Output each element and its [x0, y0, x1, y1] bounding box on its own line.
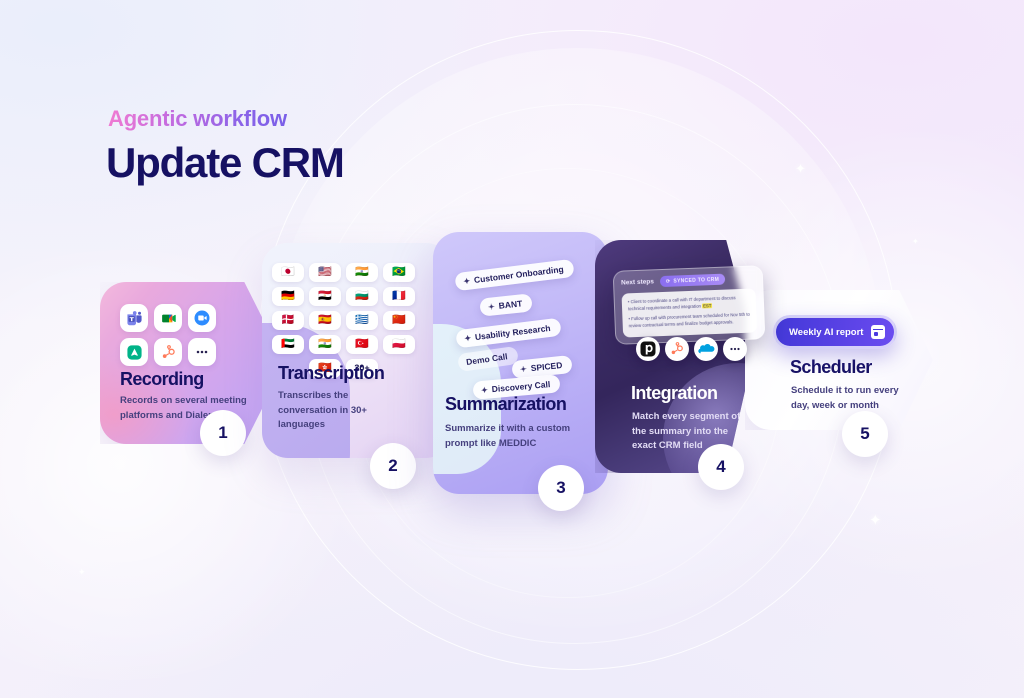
flag-pill: 🇨🇳 [383, 311, 415, 330]
step-number-badge: 4 [698, 444, 744, 490]
card-title-summarization: Summarization [445, 394, 566, 415]
sparkle-icon: ✦ [520, 364, 528, 374]
flag-pill: 🇦🇪 [272, 335, 304, 354]
card-title-recording: Recording [120, 369, 204, 390]
popup-bullet-line: • Client to coordinate a call with IT de… [628, 294, 750, 313]
chip-label: BANT [498, 298, 523, 310]
step-number-badge: 2 [370, 443, 416, 489]
card-title-scheduler: Scheduler [790, 357, 872, 378]
flag-pill: 🇮🇳 [346, 263, 378, 282]
flag-pill: 🇹🇷 [346, 335, 378, 354]
flag-pill: 🇧🇬 [346, 287, 378, 306]
popup-bullet-line: • Follow up call with procurement team s… [628, 311, 750, 330]
recording-app-icons [120, 304, 216, 366]
step-card-scheduler[interactable]: Scheduler Schedule it to run every day, … [745, 290, 933, 430]
popup-title: Next steps [621, 278, 654, 286]
salesforce-icon[interactable] [694, 337, 718, 361]
flag-pill: 🇯🇵 [272, 263, 304, 282]
flag-pill: 🇬🇷 [346, 311, 378, 330]
zoom-icon[interactable] [188, 304, 216, 332]
highlight-token: EST [702, 303, 713, 308]
card-description-transcription: Transcribes the conversation in 30+ lang… [278, 389, 408, 433]
badge-label: SYNCED TO CRM [673, 276, 719, 284]
sparkle-icon: ✦ [488, 302, 496, 312]
step-number-badge: 5 [842, 411, 888, 457]
button-label: Weekly AI report [789, 327, 863, 338]
microsoft-teams-icon[interactable] [120, 304, 148, 332]
popup-header: Next steps ⟳ SYNCED TO CRM [621, 272, 755, 288]
flag-pill: 🇺🇸 [309, 263, 341, 282]
chip-label: Demo Call [466, 351, 509, 367]
step-card-transcription[interactable]: 🇯🇵 🇺🇸 🇮🇳 🇧🇷 🇩🇪 🇪🇬 🇧🇬 🇫🇷 🇩🇰 🇪🇸 🇬🇷 🇨🇳 🇦🇪 🇮… [262, 243, 452, 458]
chip-label: Discovery Call [491, 379, 550, 394]
sparkle-icon: ✦ [463, 276, 471, 286]
flag-pill: 🇵🇱 [383, 335, 415, 354]
calendar-icon [871, 325, 885, 339]
flag-pill: 🇫🇷 [383, 287, 415, 306]
flag-pill: 🇩🇪 [272, 287, 304, 306]
flag-pill: 🇪🇬 [309, 287, 341, 306]
flag-pill: 🇧🇷 [383, 263, 415, 282]
google-meet-icon[interactable] [154, 304, 182, 332]
language-flag-grid: 🇯🇵 🇺🇸 🇮🇳 🇧🇷 🇩🇪 🇪🇬 🇧🇬 🇫🇷 🇩🇰 🇪🇸 🇬🇷 🇨🇳 🇦🇪 🇮… [272, 263, 415, 378]
card-description-summarization: Summarize it with a custom prompt like M… [445, 422, 575, 451]
card-description-scheduler: Schedule it to run every day, week or mo… [791, 384, 909, 413]
more-icon[interactable] [723, 337, 747, 361]
status-badge: ⟳ SYNCED TO CRM [660, 274, 726, 287]
more-icon[interactable] [188, 338, 216, 366]
flag-pill: 🇮🇳 [309, 335, 341, 354]
card-title-transcription: Transcription [278, 363, 384, 384]
flag-pill: 🇩🇰 [272, 311, 304, 330]
popup-body: • Client to coordinate a call with IT de… [622, 288, 758, 337]
pipedrive-icon[interactable] [636, 337, 660, 361]
workflow-infographic: ✦ ✦ ✦ ✦ ✦ ✦ ✦ Agentic workflow Update CR… [0, 0, 1024, 698]
chip-label: SPICED [530, 360, 563, 373]
step-number-badge: 3 [538, 465, 584, 511]
eyebrow-label: Agentic workflow [108, 106, 287, 132]
flag-pill: 🇪🇸 [309, 311, 341, 330]
sparkle-icon: ✦ [464, 333, 472, 343]
card-title-integration: Integration [631, 383, 717, 404]
aircall-icon[interactable] [120, 338, 148, 366]
hubspot-icon[interactable] [154, 338, 182, 366]
step-number-badge: 1 [200, 410, 246, 456]
crm-next-steps-popup[interactable]: Next steps ⟳ SYNCED TO CRM • Client to c… [613, 265, 766, 345]
hubspot-icon[interactable] [665, 337, 689, 361]
weekly-ai-report-button[interactable]: Weekly AI report [773, 315, 897, 349]
integration-app-icons [636, 337, 747, 361]
sync-icon: ⟳ [666, 278, 671, 284]
page-title: Update CRM [106, 139, 344, 187]
